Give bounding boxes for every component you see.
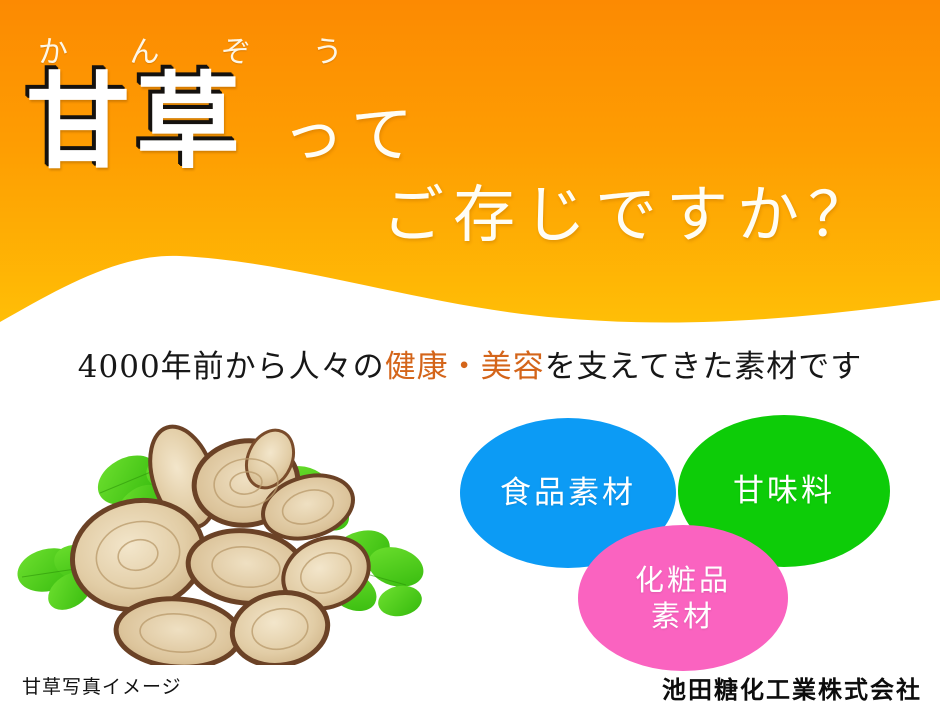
photo-caption: 甘草写真イメージ: [22, 672, 182, 699]
licorice-photo-graphic: [8, 415, 448, 665]
subheadline-tail: を支えてきた素材です: [545, 349, 863, 385]
subheadline: 4000年前から人々の健康・美容を支えてきた素材です: [0, 350, 940, 384]
category-bubbles: 食品素材 甘味料 化粧品 素材: [440, 400, 940, 685]
licorice-photo: [8, 415, 448, 665]
hero-banner: か ん ぞ う 甘草 って ご存じですか？: [0, 0, 940, 340]
bubble-cosmetics[interactable]: 化粧品 素材: [578, 525, 788, 671]
title-kanji: 甘草: [26, 70, 246, 174]
poster-slide: か ん ぞ う 甘草 って ご存じですか？ 4000年前から人々の健康・美容を支…: [0, 0, 940, 705]
bubble-cosmetics-line2: 素材: [651, 598, 715, 634]
title-particle: って: [282, 104, 423, 166]
title-question: ご存じですか？: [382, 184, 879, 246]
subheadline-lead: 4000年前から人々の: [78, 349, 385, 385]
bubble-cosmetics-line1: 化粧品: [635, 562, 731, 598]
company-name: 池田糖化工業株式会社: [662, 670, 922, 705]
subheadline-highlight: 健康・美容: [385, 349, 545, 385]
licorice-root-slices: [62, 418, 379, 665]
